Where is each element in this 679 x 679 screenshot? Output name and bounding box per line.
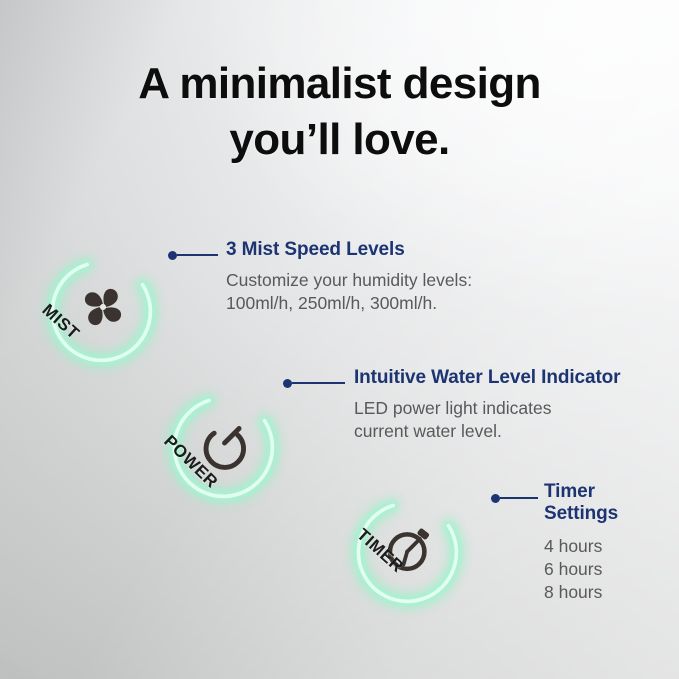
callout-title: 3 Mist Speed Levels — [226, 239, 472, 262]
leader-line-timer-settings — [491, 492, 538, 504]
leader-line-mist-speed — [168, 249, 218, 261]
leader-rule — [177, 254, 218, 256]
callout-body-line: Customize your humidity levels: — [226, 269, 472, 292]
callout-body-line: LED power light indicates — [354, 397, 620, 420]
headline-line-1: A minimalist design — [138, 59, 541, 108]
callout-body-line: 100ml/h, 250ml/h, 300ml/h. — [226, 292, 472, 315]
callout-title-line: Timer — [544, 481, 618, 503]
page-title: A minimalist design you’ll love. — [0, 56, 679, 169]
callout-title: Timer Settings — [544, 481, 618, 526]
callout-timer-settings: Timer Settings 4 hours 6 hours 8 hours — [544, 481, 618, 604]
callout-mist-speed: 3 Mist Speed Levels Customize your humid… — [226, 239, 472, 315]
callout-water-level: Intuitive Water Level Indicator LED powe… — [354, 367, 620, 443]
fan-icon — [74, 278, 132, 336]
leader-rule — [292, 382, 345, 384]
leader-dot-icon — [491, 494, 500, 503]
leader-line-water-level — [283, 377, 345, 389]
callout-body-line: 6 hours — [544, 558, 618, 581]
leader-dot-icon — [168, 251, 177, 260]
callout-body: 4 hours 6 hours 8 hours — [544, 535, 618, 604]
product-infographic: A minimalist design you’ll love. MI — [0, 0, 679, 679]
callout-body-line: 8 hours — [544, 581, 618, 604]
callout-body: Customize your humidity levels: 100ml/h,… — [226, 269, 472, 315]
leader-dot-icon — [283, 379, 292, 388]
callout-body-line: 4 hours — [544, 535, 618, 558]
callout-body-line: current water level. — [354, 420, 620, 443]
headline-line-2: you’ll love. — [0, 112, 679, 168]
callout-title-line: Settings — [544, 503, 618, 525]
callout-body: LED power light indicates current water … — [354, 397, 620, 443]
leader-rule — [500, 497, 538, 499]
callout-title: Intuitive Water Level Indicator — [354, 367, 620, 390]
